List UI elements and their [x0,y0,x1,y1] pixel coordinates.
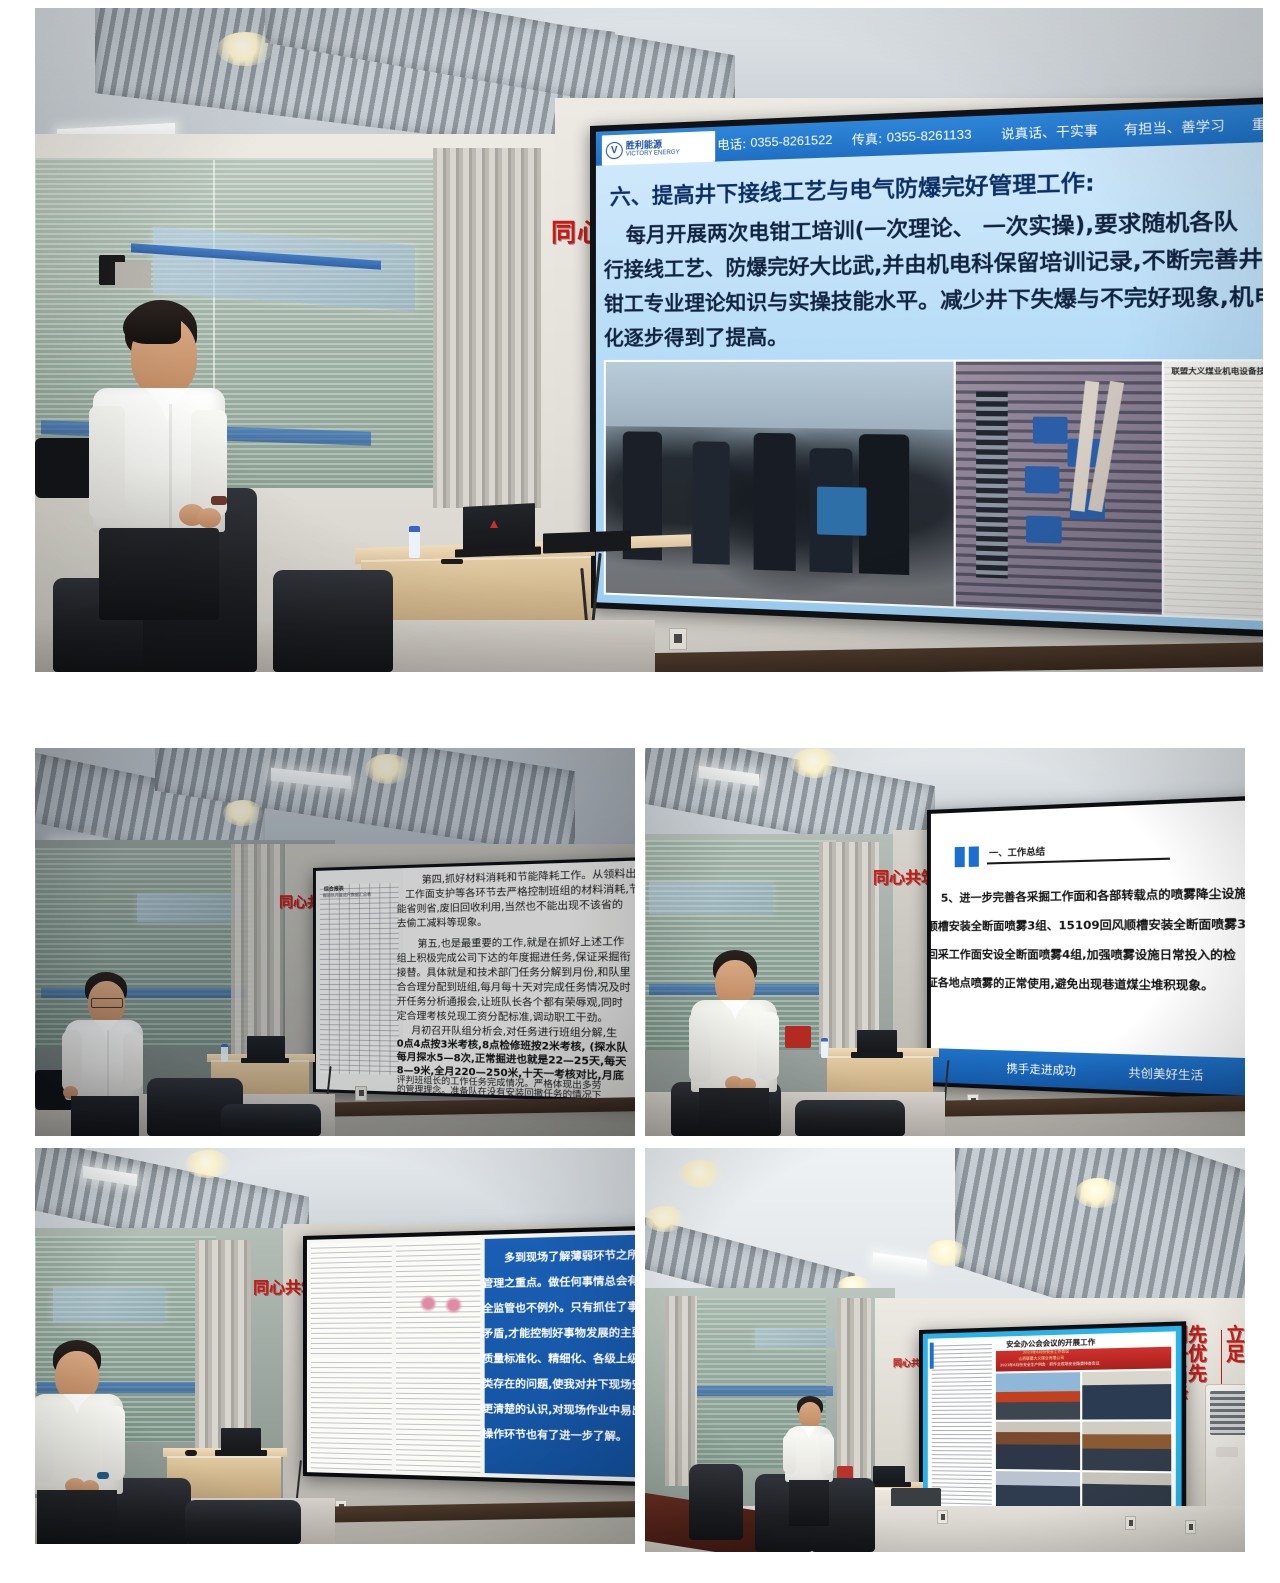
screen-fax-label: 传真: [852,129,882,148]
screen-phone: 0355-8261522 [751,132,833,150]
screen-fax: 0355-8261133 [887,127,972,145]
report-table-subtitle: 掘进队月度进尺数据汇总表 [323,892,371,899]
photo-collage-page: 不忘初心跟党走 同心共筑中国梦 电话: 0355-8261522 传真: 035… [0,0,1280,1583]
slide-paragraph: 多到现场了解薄弱环节之所在, [504,1245,635,1265]
slide-paragraph: 5、进一步完善各采掘工作面和各部转载点的喷雾降尘设施, [941,884,1245,906]
photo-row2-left: 不忘初心跟党走 同心共筑中国梦 综合报表 掘进队月度进尺数据汇总表 第四,抓好材… [35,748,635,1136]
slide-image-collage: 联盟大义煤业机电设备技 [604,359,1263,626]
screen-slogan-2: 有担当、善学习 [1124,115,1225,138]
document-scan-1 [311,1242,392,1354]
photo-main: 不忘初心跟党走 同心共筑中国梦 电话: 0355-8261522 传真: 035… [35,8,1263,672]
company-name-en: VICTORY ENERGY [626,149,680,157]
slide-paragraph: 组上积极完成公司下达的年度掘进任务,保证采掘衔 [397,948,631,964]
presenter [785,1396,849,1526]
presenter [689,950,799,1136]
presentation-slide: 电话: 0355-8261522 传真: 0355-8261133 说真话、干实… [596,99,1263,635]
slide-paragraph: 第五,也是最重要的工作,就是在抓好上述工作 [418,933,625,950]
av-control-box [543,530,631,553]
screen-slogan-3: 重执行、 [1252,112,1263,133]
presenter [37,1340,153,1544]
office-chair [689,1464,743,1540]
record-table-title: 联盟大义煤业机电设备技 [1171,366,1263,377]
meeting-photo-2 [1082,1371,1171,1420]
photo-row3-left: 不忘初心跟党走 同心共筑中国梦 多到现 [35,1148,635,1544]
record-table-photo: 联盟大义煤业机电设备技 [1164,361,1263,623]
laptop-lid [463,503,535,553]
company-logo: V 胜利能源 VICTORY ENERGY [602,131,715,166]
slide-paragraph: 更清楚的认识,对现场作业中易出现 [482,1400,635,1418]
photo-row3-right: 不忘初心跟党走 同心共筑中国梦 立足 创先争优当先锋 安全办公会会议的开展工作 [645,1148,1245,1552]
screen-phone-label: 电话: [717,134,746,153]
wall-socket [669,628,687,650]
slide-paragraph: 全监管也不例外。只有抓住了事物发 [482,1297,635,1315]
slide-paragraph: 类存在的问题,使我对井下现场安全 [482,1375,635,1392]
document-scan-3 [311,1358,392,1470]
photo-row2-right: 不忘初心跟党走 同心共筑中国梦 V 一、工作总结 5、进一步完善各采掘工作面和各… [645,748,1245,1136]
slide-paragraph: 顺槽安装全断面喷雾3组、15109回风顺槽安装全断面喷雾3组 [931,915,1245,934]
slide-banner-line: 2023年6月份安全生产例会 · 抓作业现场安全隐患排查会议 [1000,1361,1100,1368]
slide-blue-text-panel: 多到现场了解薄弱环节之所在, 管理之重点。做任何事情总会有出发 全监管也不例外。… [485,1234,635,1478]
slide-footer-left: 携手走进成功 [1006,1060,1076,1079]
slide-paragraph: 合合理分配到班组,每月每十天对完成任务情况及时 [397,979,631,994]
report-table-image: 综合报表 掘进队月度进尺数据汇总表 [320,883,399,1076]
slide-paragraph: 接替。具体就是和技术部门任务分解到月份,和队里 [397,964,631,979]
junction-box-photo [956,361,1162,614]
document-scan-4 [396,1358,480,1473]
screen-slogan-1: 说真话、干实事 [1001,120,1098,142]
water-bottle [409,526,420,558]
slogan-divider [1221,1330,1222,1386]
slide-paragraph: 管理之重点。做任何事情总会有出发 [482,1271,635,1290]
led-wall-screen[interactable]: V 一、工作总结 5、进一步完善各采掘工作面和各部转载点的喷雾降尘设施, 顺槽安… [927,794,1245,1102]
meeting-photo-4 [1082,1422,1171,1471]
led-wall-screen[interactable]: 综合报表 掘进队月度进尺数据汇总表 第四,抓好材料消耗和节能降耗工作。从领料出 … [313,856,635,1104]
slide-footer-right: 共创美好生活 [1128,1064,1203,1084]
meeting-photo-3 [996,1422,1080,1470]
slide-paragraph: 证各地点喷雾的正常使用,避免出现巷道煤尘堆积现象。 [931,974,1214,994]
led-wall-screen[interactable]: 多到现场了解薄弱环节之所在, 管理之重点。做任何事情总会有出发 全监管也不例外。… [303,1225,635,1487]
eyeglasses-icon [91,998,123,1008]
slide-title: 安全办公会会议的开展工作 [1006,1337,1095,1350]
office-chair [273,570,393,672]
led-wall-screen[interactable]: 安全办公会会议的开展工作 2023年6月份安全工作会议 山西联盟大义煤业有限公司… [919,1321,1186,1536]
slide-paragraph: 回采工作面安设全断面喷雾4组,加强喷雾设施日常投入的检 [931,946,1236,964]
ceiling-downlight-icon [217,32,273,66]
document-scan-2 [396,1239,480,1354]
slide-banner-line: 山西联盟大义煤业有限公司 [1019,1356,1064,1362]
meeting-photo-1 [996,1372,1080,1420]
slide-paragraph: 操作环节也有了进一步了解。 [482,1425,627,1444]
presenter [87,300,277,620]
wall-slogan-right-column: 立足 [1226,1326,1245,1365]
slide-paragraph: 矛盾,才能控制好事物发展的主要方 [482,1323,635,1340]
slide-paragraph: 去偷工减料等现象。 [397,914,488,930]
slide-paragraph: 化逐步得到了提高。 [604,320,788,351]
led-wall-screen[interactable]: 电话: 0355-8261522 传真: 0355-8261133 说真话、干实… [590,92,1263,642]
victory-v-icon: V [606,141,623,159]
window-curtain [433,148,541,508]
mine-training-photo [606,362,954,607]
slide-paragraph: 质量标准化、精细化、各级上级部门 [482,1349,635,1365]
slide-banner-line: 2023年6月份安全工作会议 [1023,1349,1069,1355]
slide-section-label: 一、工作总结 [989,844,1045,859]
presenter [61,972,167,1136]
